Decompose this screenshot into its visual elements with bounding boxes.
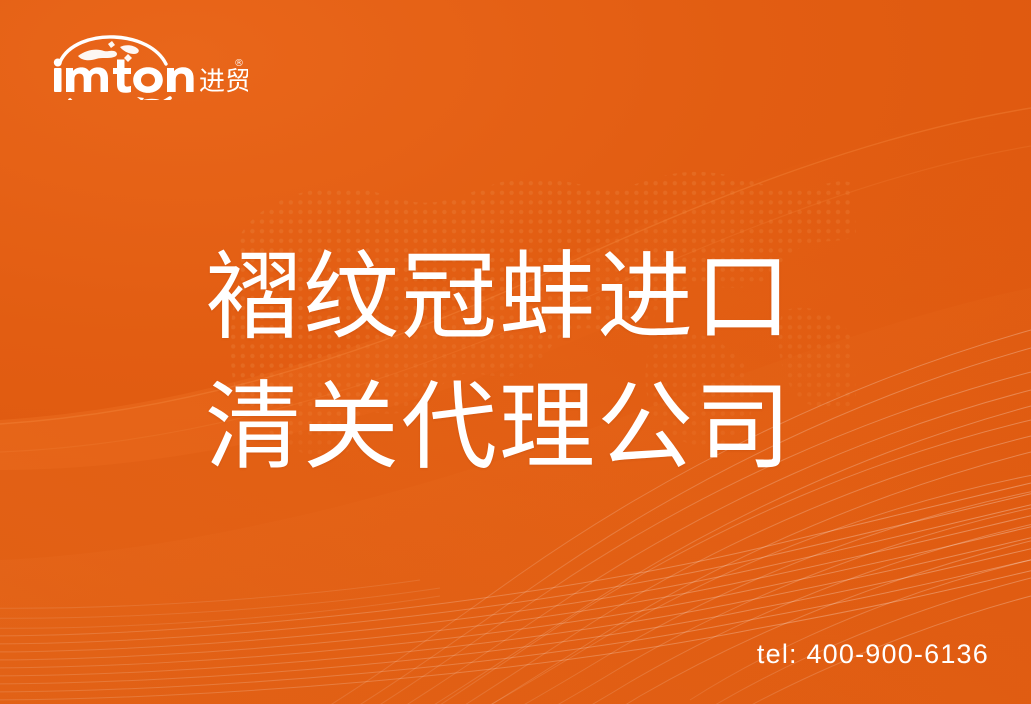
contact-phone[interactable]: tel: 400-900-6136	[757, 639, 989, 670]
headline-line-1: 褶纹冠蚌进口	[205, 233, 865, 363]
page-title: 褶纹冠蚌进口 清关代理公司	[205, 233, 865, 493]
brand-logo[interactable]: 进贸通 ®	[38, 34, 248, 100]
trademark-symbol: ®	[234, 58, 244, 69]
headline-line-2: 清关代理公司	[205, 363, 865, 493]
brand-chinese-name: 进贸通	[199, 67, 248, 97]
poster-banner: 进贸通 ® 褶纹冠蚌进口 清关代理公司 tel: 400-900-6136	[0, 0, 1031, 704]
